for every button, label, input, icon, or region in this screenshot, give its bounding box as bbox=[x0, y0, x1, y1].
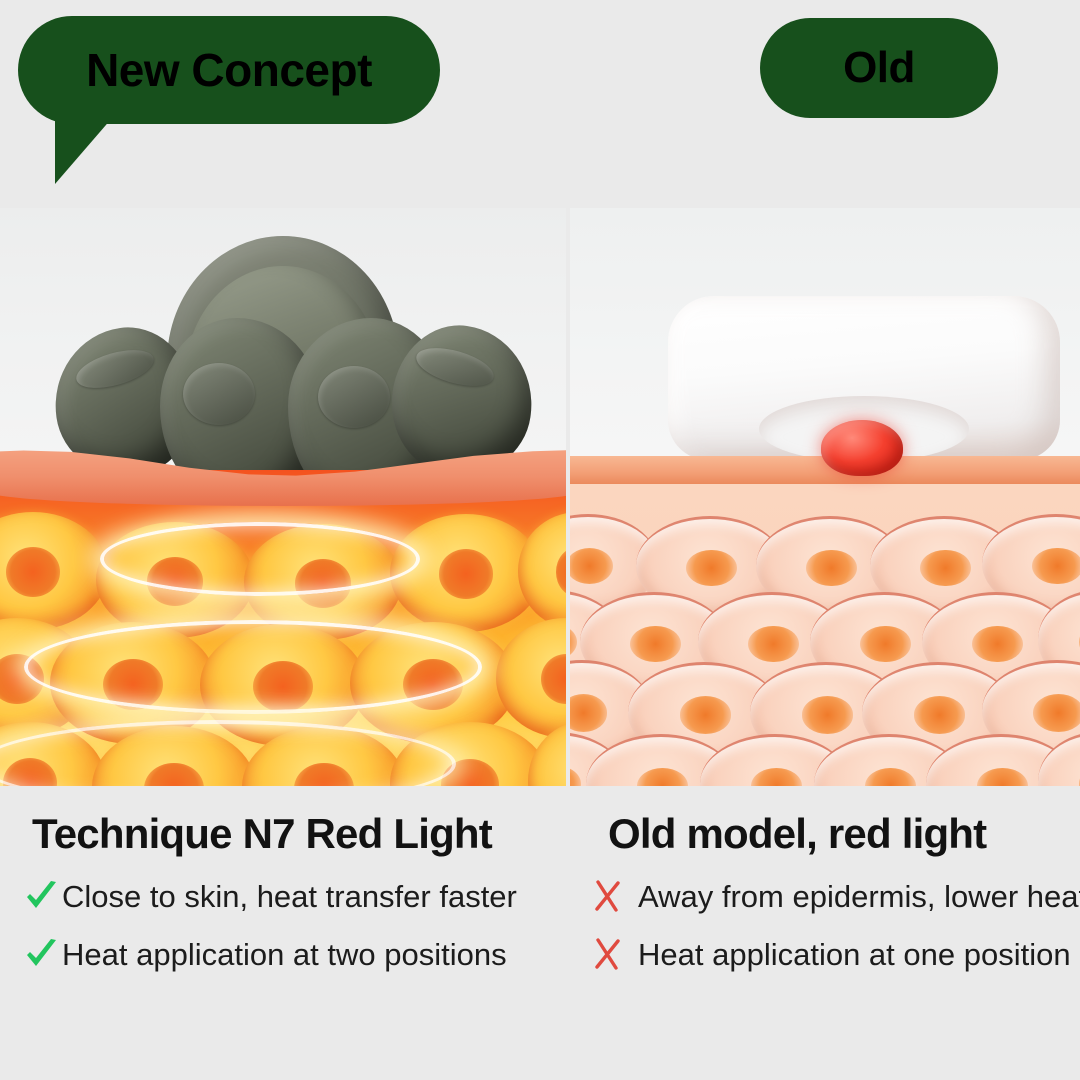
light-ring-lower bbox=[24, 620, 482, 714]
check-icon bbox=[22, 934, 62, 974]
badge-new-concept[interactable]: New Concept bbox=[18, 16, 440, 124]
new-concept-bullet-2: Heat application at two positions bbox=[22, 934, 566, 974]
check-icon bbox=[22, 876, 62, 916]
new-concept-bullet-1-text: Close to skin, heat transfer faster bbox=[62, 881, 517, 912]
light-ring-upper bbox=[100, 522, 420, 596]
skin-cell bbox=[518, 512, 566, 630]
new-concept-bullet-1: Close to skin, heat transfer faster bbox=[22, 876, 566, 916]
massage-node-dimple-right bbox=[318, 366, 390, 428]
comparison-panels bbox=[0, 208, 1080, 786]
old-model-image-panel bbox=[570, 208, 1080, 786]
speech-bubble-tail bbox=[55, 118, 112, 184]
skin-cell bbox=[496, 618, 566, 738]
badge-row: New Concept Old bbox=[0, 0, 1080, 208]
new-concept-headline: Technique N7 Red Light bbox=[32, 810, 566, 858]
badge-new-concept-label: New Concept bbox=[86, 43, 372, 97]
badge-old[interactable]: Old bbox=[760, 18, 998, 118]
skin-cross-section-right bbox=[570, 456, 1080, 786]
dermis-layer-right bbox=[570, 482, 1080, 786]
new-concept-bullet-2-text: Heat application at two positions bbox=[62, 939, 507, 970]
red-led-dome bbox=[821, 420, 903, 476]
old-model-headline: Old model, red light bbox=[608, 810, 1080, 858]
old-model-caption: Old model, red light Away from epidermis… bbox=[570, 786, 1080, 974]
dermis-layer-left bbox=[0, 470, 566, 786]
massage-node-dimple-left bbox=[183, 363, 255, 425]
new-concept-image-panel bbox=[0, 208, 566, 786]
skin-cross-section-left bbox=[0, 440, 566, 786]
old-model-bullet-1: Away from epidermis, lower heat bbox=[588, 876, 1080, 916]
cross-icon bbox=[588, 934, 628, 974]
new-concept-caption: Technique N7 Red Light Close to skin, he… bbox=[0, 786, 566, 974]
old-model-bullet-1-text: Away from epidermis, lower heat bbox=[638, 881, 1080, 912]
skin-cell bbox=[0, 512, 108, 630]
badge-old-label: Old bbox=[843, 43, 915, 93]
old-model-bullet-2-text: Heat application at one position bbox=[638, 939, 1071, 970]
old-model-bullet-2: Heat application at one position bbox=[588, 934, 1080, 974]
cross-icon bbox=[588, 876, 628, 916]
